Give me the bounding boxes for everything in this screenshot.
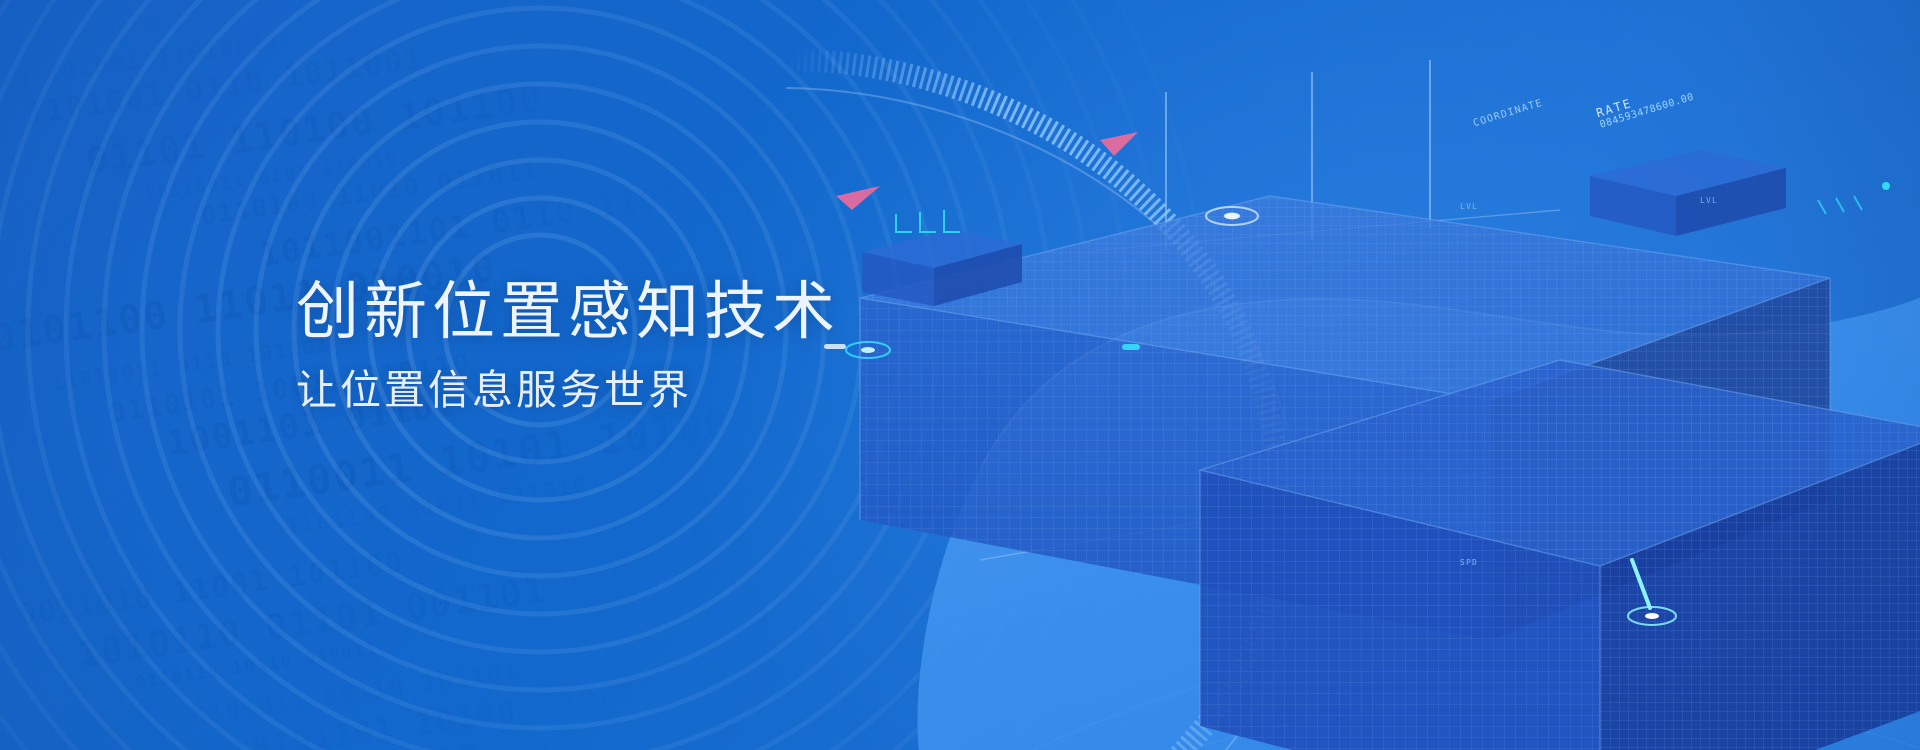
background-vignette [0, 0, 1920, 750]
hero-banner: 10110011010 0110 101100110 101001 110100… [0, 0, 1920, 750]
